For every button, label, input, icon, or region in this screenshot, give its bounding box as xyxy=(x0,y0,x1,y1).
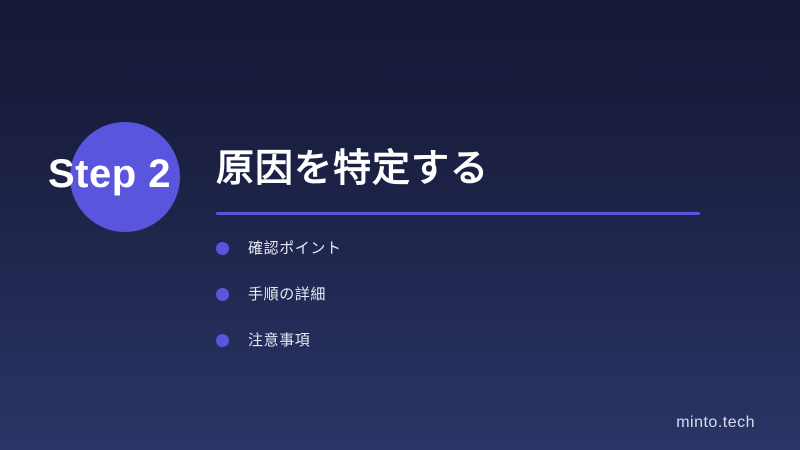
bullet-label: 確認ポイント xyxy=(248,239,342,258)
list-item: 手順の詳細 xyxy=(216,285,716,304)
title-block: 原因を特定する xyxy=(216,146,776,215)
presentation-slide: Step 2 原因を特定する 確認ポイント 手順の詳細 注意事項 minto.t… xyxy=(0,0,800,450)
bullet-dot-icon xyxy=(216,242,229,255)
footer-brand: minto.tech xyxy=(676,414,755,432)
bullet-label: 注意事項 xyxy=(248,331,310,350)
list-item: 注意事項 xyxy=(216,331,716,350)
bullet-label: 手順の詳細 xyxy=(248,285,326,304)
bullet-list: 確認ポイント 手順の詳細 注意事項 xyxy=(216,239,716,377)
slide-title: 原因を特定する xyxy=(216,146,776,192)
bullet-dot-icon xyxy=(216,288,229,301)
bullet-dot-icon xyxy=(216,334,229,347)
title-divider xyxy=(216,212,700,215)
list-item: 確認ポイント xyxy=(216,239,716,258)
step-badge-label: Step 2 xyxy=(48,152,208,196)
